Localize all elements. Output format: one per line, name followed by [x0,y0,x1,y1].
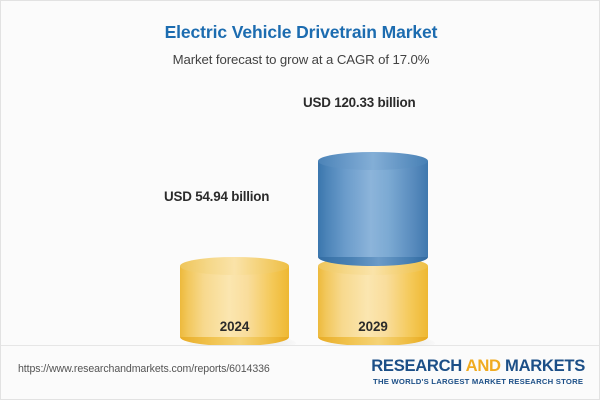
cylinder-top-cap [180,257,289,275]
cylinder-body [318,161,428,257]
chart-footer: https://www.researchandmarkets.com/repor… [1,345,600,399]
logo-word-markets: MARKETS [501,356,585,375]
bar-segment-growth-2029 [318,152,428,266]
category-label-2029: 2029 [318,319,428,334]
chart-infographic: Electric Vehicle Drivetrain Market Marke… [0,0,600,400]
value-label-2024: USD 54.94 billion [164,189,269,204]
logo-wordmark: RESEARCH AND MARKETS [371,356,585,376]
value-label-2029: USD 120.33 billion [303,95,416,110]
cylinder-top-cap [318,152,428,170]
source-url[interactable]: https://www.researchandmarkets.com/repor… [18,363,270,375]
research-and-markets-logo[interactable]: RESEARCH AND MARKETS THE WORLD'S LARGEST… [371,356,585,386]
logo-word-and: AND [466,356,501,375]
logo-tagline: THE WORLD'S LARGEST MARKET RESEARCH STOR… [371,377,585,386]
category-label-2024: 2024 [180,319,289,334]
chart-plot-area: USD 54.94 billion USD 120.33 billion 202… [1,1,600,346]
bar-2029 [318,152,428,346]
logo-word-research: RESEARCH [371,356,465,375]
